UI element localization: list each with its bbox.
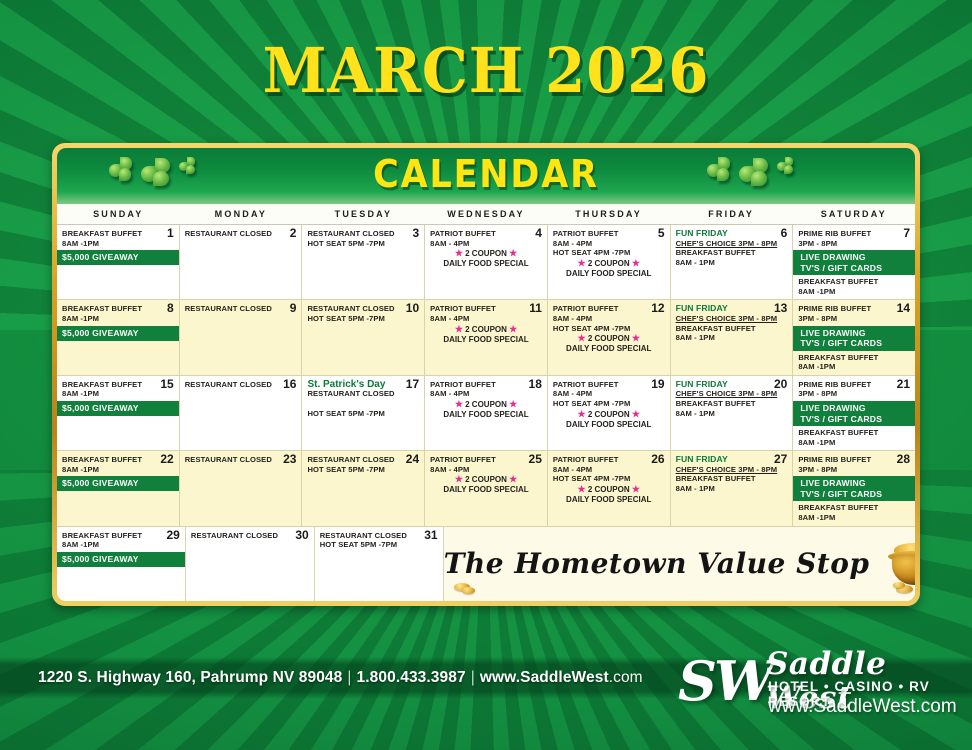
weekday-label-saturday: SATURDAY <box>792 204 915 224</box>
calendar-week-row: 22BREAKFAST BUFFET8AM -1PM$5,000 GIVEAWA… <box>57 451 915 526</box>
giveaway-banner: $5,000 GIVEAWAY <box>57 476 179 491</box>
event-text: HOT SEAT 5PM -7PM <box>307 239 419 249</box>
day-number: 11 <box>529 302 542 315</box>
calendar-day-cell-13[interactable]: 13FUN FRIDAYCHEF'S CHOICE 3PM - 8PMBREAK… <box>671 300 794 374</box>
event-text: RESTAURANT CLOSED <box>307 389 419 399</box>
cell-footer-text: BREAKFAST BUFFET8AM - 1PM <box>676 248 788 267</box>
event-text: 8AM - 4PM <box>430 314 542 324</box>
event-text: PATRIOT BUFFET <box>553 455 665 465</box>
coupon-promo: ★ 2 COUPON ★DAILY FOOD SPECIAL <box>553 258 665 279</box>
day-number: 1 <box>167 227 174 240</box>
star-icon: ★ <box>509 474 517 484</box>
live-drawing-banner: LIVE DRAWINGTV'S / GIFT CARDS <box>793 250 915 275</box>
event-text: BREAKFAST BUFFET <box>62 455 174 465</box>
calendar-day-cell-5[interactable]: 5PATRIOT BUFFET8AM - 4PMHOT SEAT 4PM -7P… <box>548 225 671 299</box>
coupon-label: 2 COUPON <box>463 400 509 409</box>
calendar-day-cell-7[interactable]: 7PRIME RIB BUFFET3PM - 8PMLIVE DRAWINGTV… <box>793 225 915 299</box>
shamrock-icon <box>777 157 794 174</box>
event-text: PATRIOT BUFFET <box>430 380 542 390</box>
star-icon: ★ <box>578 258 586 268</box>
star-icon: ★ <box>455 324 463 334</box>
calendar-day-cell-10[interactable]: 10RESTAURANT CLOSEDHOT SEAT 5PM -7PM <box>302 300 425 374</box>
event-text: 8AM -1PM <box>62 465 174 475</box>
coupon-label: 2 COUPON <box>586 410 632 419</box>
coupon-label: 2 COUPON <box>463 249 509 258</box>
star-icon: ★ <box>509 324 517 334</box>
day-number: 2 <box>290 227 297 240</box>
calendar-day-cell-9[interactable]: 9RESTAURANT CLOSED <box>180 300 303 374</box>
weekday-label-tuesday: TUESDAY <box>302 204 425 224</box>
calendar-day-cell-21[interactable]: 21PRIME RIB BUFFET3PM - 8PMLIVE DRAWINGT… <box>793 376 915 450</box>
live-drawing-banner: LIVE DRAWINGTV'S / GIFT CARDS <box>793 326 915 351</box>
calendar-day-cell-12[interactable]: 12PATRIOT BUFFET8AM - 4PMHOT SEAT 4PM -7… <box>548 300 671 374</box>
event-text: 8AM - 1PM <box>676 333 788 343</box>
cell-footer-text: BREAKFAST BUFFET8AM - 1PM <box>676 324 788 343</box>
event-text: PATRIOT BUFFET <box>553 380 665 390</box>
event-text: 8AM -1PM <box>62 540 180 550</box>
star-icon: ★ <box>455 474 463 484</box>
calendar-week-row: 8BREAKFAST BUFFET8AM -1PM$5,000 GIVEAWAY… <box>57 300 915 375</box>
day-number: 5 <box>658 227 665 240</box>
logo-monogram: SW <box>678 653 772 709</box>
day-number: 19 <box>651 378 664 391</box>
coupon-sublabel: DAILY FOOD SPECIAL <box>430 485 542 495</box>
coupon-promo: ★ 2 COUPON ★DAILY FOOD SPECIAL <box>430 474 542 495</box>
page-title: MARCH 2026 <box>34 34 938 107</box>
coupon-label: 2 COUPON <box>586 259 632 268</box>
event-text: RESTAURANT CLOSED <box>185 380 297 390</box>
day-number: 31 <box>424 529 437 542</box>
event-text: HOT SEAT 5PM -7PM <box>307 409 419 419</box>
event-text: PATRIOT BUFFET <box>430 304 542 314</box>
slogan-cell: The Hometown Value Stop <box>444 527 915 601</box>
banner-line: TV'S / GIFT CARDS <box>800 489 910 500</box>
calendar-day-cell-1[interactable]: 1BREAKFAST BUFFET8AM -1PM$5,000 GIVEAWAY <box>57 225 180 299</box>
calendar-day-cell-4[interactable]: 4PATRIOT BUFFET8AM - 4PM★ 2 COUPON ★DAIL… <box>425 225 548 299</box>
event-text: RESTAURANT CLOSED <box>307 229 419 239</box>
live-drawing-banner: LIVE DRAWINGTV'S / GIFT CARDS <box>793 401 915 426</box>
event-text: BREAKFAST BUFFET <box>62 531 180 541</box>
day-number: 12 <box>651 302 664 315</box>
event-text: 8AM - 1PM <box>676 258 788 268</box>
event-text: RESTAURANT CLOSED <box>185 304 297 314</box>
calendar-day-cell-6[interactable]: 6FUN FRIDAYCHEF'S CHOICE 3PM - 8PMBREAKF… <box>671 225 794 299</box>
feature-event-label: FUN FRIDAY <box>676 229 788 239</box>
event-text: PATRIOT BUFFET <box>430 455 542 465</box>
footer-phone: 1.800.433.3987 <box>357 669 466 686</box>
calendar-day-cell-18[interactable]: 18PATRIOT BUFFET8AM - 4PM★ 2 COUPON ★DAI… <box>425 376 548 450</box>
event-text: 8AM - 4PM <box>553 465 665 475</box>
footer-separator-2: | <box>471 669 475 686</box>
pot-of-gold-icon <box>888 541 916 587</box>
event-text: PATRIOT BUFFET <box>553 304 665 314</box>
chefs-choice-label: CHEF'S CHOICE 3PM - 8PM <box>676 239 788 249</box>
coupon-sublabel: DAILY FOOD SPECIAL <box>553 420 665 430</box>
day-number: 10 <box>406 302 419 315</box>
calendar-day-cell-17[interactable]: 17St. Patrick's DayRESTAURANT CLOSEDHOT … <box>302 376 425 450</box>
banner-line: LIVE DRAWING <box>800 252 910 263</box>
coupon-sublabel: DAILY FOOD SPECIAL <box>553 269 665 279</box>
day-number: 8 <box>167 302 174 315</box>
event-text: PRIME RIB BUFFET <box>798 455 910 465</box>
feature-event-label: FUN FRIDAY <box>676 304 788 314</box>
shamrock-icon <box>739 157 769 187</box>
event-text: HOT SEAT 5PM -7PM <box>307 465 419 475</box>
star-icon: ★ <box>632 333 640 343</box>
star-icon: ★ <box>455 248 463 258</box>
event-text: 8AM -1PM <box>62 389 174 399</box>
event-text: PRIME RIB BUFFET <box>798 229 910 239</box>
day-number: 14 <box>897 302 910 315</box>
weekday-label-monday: MONDAY <box>180 204 303 224</box>
event-text: 8AM -1PM <box>62 314 174 324</box>
calendar-day-cell-28[interactable]: 28PRIME RIB BUFFET3PM - 8PMLIVE DRAWINGT… <box>793 451 915 525</box>
calendar-grid: 1BREAKFAST BUFFET8AM -1PM$5,000 GIVEAWAY… <box>57 225 915 601</box>
event-text: BREAKFAST BUFFET <box>798 353 910 363</box>
day-number: 27 <box>774 453 787 466</box>
logo-website[interactable]: www.SaddleWest.com <box>768 696 957 718</box>
coupon-label: 2 COUPON <box>586 485 632 494</box>
coupon-sublabel: DAILY FOOD SPECIAL <box>430 410 542 420</box>
calendar-day-cell-16[interactable]: 16RESTAURANT CLOSED <box>180 376 303 450</box>
slogan-text: The Hometown Value Stop <box>444 547 870 580</box>
coupon-promo: ★ 2 COUPON ★DAILY FOOD SPECIAL <box>430 248 542 269</box>
event-text: 3PM - 8PM <box>798 389 910 399</box>
coupon-sublabel: DAILY FOOD SPECIAL <box>430 335 542 345</box>
feature-event-label: FUN FRIDAY <box>676 455 788 465</box>
day-number: 3 <box>412 227 419 240</box>
day-number: 16 <box>283 378 296 391</box>
coupon-promo: ★ 2 COUPON ★DAILY FOOD SPECIAL <box>553 484 665 505</box>
day-number: 4 <box>535 227 542 240</box>
day-number: 9 <box>290 302 297 315</box>
calendar-day-cell-15[interactable]: 15BREAKFAST BUFFET8AM -1PM$5,000 GIVEAWA… <box>57 376 180 450</box>
event-text: 8AM - 4PM <box>553 389 665 399</box>
banner-line: TV'S / GIFT CARDS <box>800 338 910 349</box>
calendar-day-cell-23[interactable]: 23RESTAURANT CLOSED <box>180 451 303 525</box>
pot-body-part <box>892 555 916 585</box>
banner-line: TV'S / GIFT CARDS <box>800 263 910 274</box>
event-text: 8AM -1PM <box>798 438 910 448</box>
day-number: 17 <box>406 378 419 391</box>
weekday-label-friday: FRIDAY <box>670 204 793 224</box>
calendar-day-cell-25[interactable]: 25PATRIOT BUFFET8AM - 4PM★ 2 COUPON ★DAI… <box>425 451 548 525</box>
event-text: RESTAURANT CLOSED <box>307 455 419 465</box>
event-text: BREAKFAST BUFFET <box>798 428 910 438</box>
event-text: BREAKFAST BUFFET <box>676 474 788 484</box>
calendar-day-cell-26[interactable]: 26PATRIOT BUFFET8AM - 4PMHOT SEAT 4PM -7… <box>548 451 671 525</box>
footer-separator-1: | <box>347 669 351 686</box>
cell-footer-text: BREAKFAST BUFFET8AM - 1PM <box>676 399 788 418</box>
event-text: HOT SEAT 4PM -7PM <box>553 399 665 409</box>
event-text: BREAKFAST BUFFET <box>62 229 174 239</box>
coupon-sublabel: DAILY FOOD SPECIAL <box>553 495 665 505</box>
shamrock-group-right <box>707 157 794 187</box>
event-text: 8AM - 4PM <box>430 465 542 475</box>
footer-contact: 1220 S. Highway 160, Pahrump NV 89048|1.… <box>38 669 643 687</box>
day-number: 21 <box>897 378 910 391</box>
footer-address: 1220 S. Highway 160, Pahrump NV 89048 <box>38 669 342 686</box>
cell-footer-text: BREAKFAST BUFFET8AM - 1PM <box>676 474 788 493</box>
event-text: BREAKFAST BUFFET <box>62 380 174 390</box>
coupon-sublabel: DAILY FOOD SPECIAL <box>553 344 665 354</box>
calendar-day-cell-29[interactable]: 29BREAKFAST BUFFET8AM -1PM$5,000 GIVEAWA… <box>57 527 186 601</box>
day-number: 20 <box>774 378 787 391</box>
banner-line: TV'S / GIFT CARDS <box>800 414 910 425</box>
day-number: 24 <box>406 453 419 466</box>
calendar-day-cell-27[interactable]: 27FUN FRIDAYCHEF'S CHOICE 3PM - 8PMBREAK… <box>671 451 794 525</box>
gold-coin-icon <box>893 582 905 588</box>
banner-line: LIVE DRAWING <box>800 403 910 414</box>
chefs-choice-label: CHEF'S CHOICE 3PM - 8PM <box>676 314 788 324</box>
event-text: HOT SEAT 4PM -7PM <box>553 248 665 258</box>
day-number: 7 <box>903 227 910 240</box>
holiday-label: St. Patrick's Day <box>307 380 419 390</box>
event-text: BREAKFAST BUFFET <box>62 304 174 314</box>
shamrock-icon <box>707 157 731 181</box>
calendar-day-cell-3[interactable]: 3RESTAURANT CLOSEDHOT SEAT 5PM -7PM <box>302 225 425 299</box>
live-drawing-banner: LIVE DRAWINGTV'S / GIFT CARDS <box>793 476 915 501</box>
day-number: 25 <box>529 453 542 466</box>
calendar-day-cell-19[interactable]: 19PATRIOT BUFFET8AM - 4PMHOT SEAT 4PM -7… <box>548 376 671 450</box>
event-text: 8AM -1PM <box>798 362 910 372</box>
event-text: PATRIOT BUFFET <box>430 229 542 239</box>
event-text: 8AM -1PM <box>798 513 910 523</box>
day-number: 18 <box>529 378 542 391</box>
day-number: 22 <box>160 453 173 466</box>
calendar-day-cell-20[interactable]: 20FUN FRIDAYCHEF'S CHOICE 3PM - 8PMBREAK… <box>671 376 794 450</box>
event-text: 8AM -1PM <box>62 239 174 249</box>
calendar-week-row: 15BREAKFAST BUFFET8AM -1PM$5,000 GIVEAWA… <box>57 376 915 451</box>
event-text: 8AM - 4PM <box>430 389 542 399</box>
event-text: 8AM - 1PM <box>676 484 788 494</box>
giveaway-banner: $5,000 GIVEAWAY <box>57 250 179 265</box>
feature-event-label: FUN FRIDAY <box>676 380 788 390</box>
day-number: 28 <box>897 453 910 466</box>
event-text: RESTAURANT CLOSED <box>185 229 297 239</box>
event-text: BREAKFAST BUFFET <box>676 248 788 258</box>
day-number: 6 <box>781 227 788 240</box>
event-text: BREAKFAST BUFFET <box>798 503 910 513</box>
coupon-label: 2 COUPON <box>463 475 509 484</box>
weekday-header-row: SUNDAYMONDAYTUESDAYWEDNESDAYTHURSDAYFRID… <box>57 204 915 225</box>
weekday-label-wednesday: WEDNESDAY <box>425 204 548 224</box>
star-icon: ★ <box>578 333 586 343</box>
coupon-promo: ★ 2 COUPON ★DAILY FOOD SPECIAL <box>430 399 542 420</box>
banner-line: LIVE DRAWING <box>800 328 910 339</box>
event-text: RESTAURANT CLOSED <box>320 531 438 541</box>
footer-website[interactable]: www.SaddleWest <box>480 669 609 686</box>
giveaway-banner: $5,000 GIVEAWAY <box>57 326 179 341</box>
chefs-choice-label: CHEF'S CHOICE 3PM - 8PM <box>676 389 788 399</box>
giveaway-banner: $5,000 GIVEAWAY <box>57 552 185 567</box>
event-text: PRIME RIB BUFFET <box>798 304 910 314</box>
banner-line: LIVE DRAWING <box>800 478 910 489</box>
calendar-day-cell-30[interactable]: 30RESTAURANT CLOSED <box>186 527 315 601</box>
calendar-banner: CALENDAR <box>57 148 915 204</box>
weekday-label-sunday: SUNDAY <box>57 204 180 224</box>
day-number: 15 <box>160 378 173 391</box>
day-number: 26 <box>651 453 664 466</box>
star-icon: ★ <box>632 409 640 419</box>
star-icon: ★ <box>509 399 517 409</box>
day-number: 13 <box>774 302 787 315</box>
event-text: BREAKFAST BUFFET <box>676 324 788 334</box>
coupon-promo: ★ 2 COUPON ★DAILY FOOD SPECIAL <box>553 409 665 430</box>
event-text: PRIME RIB BUFFET <box>798 380 910 390</box>
coupon-label: 2 COUPON <box>586 334 632 343</box>
event-text: HOT SEAT 4PM -7PM <box>553 474 665 484</box>
event-text: 8AM - 4PM <box>553 314 665 324</box>
coupon-label: 2 COUPON <box>463 325 509 334</box>
event-text: 8AM - 4PM <box>553 239 665 249</box>
event-text: 8AM -1PM <box>798 287 910 297</box>
footer-website-tld[interactable]: .com <box>609 669 643 686</box>
coupon-promo: ★ 2 COUPON ★DAILY FOOD SPECIAL <box>553 333 665 354</box>
event-text: 8AM - 4PM <box>430 239 542 249</box>
coupon-promo: ★ 2 COUPON ★DAILY FOOD SPECIAL <box>430 324 542 345</box>
calendar-day-cell-11[interactable]: 11PATRIOT BUFFET8AM - 4PM★ 2 COUPON ★DAI… <box>425 300 548 374</box>
weekday-label-thursday: THURSDAY <box>547 204 670 224</box>
event-text: HOT SEAT 5PM -7PM <box>307 314 419 324</box>
star-icon: ★ <box>632 258 640 268</box>
day-number: 30 <box>295 529 308 542</box>
event-text: PATRIOT BUFFET <box>553 229 665 239</box>
calendar-frame: CALENDAR SUNDAYMONDAYTUESDAYWEDNESDAYTHU… <box>52 143 920 606</box>
event-text: 3PM - 8PM <box>798 465 910 475</box>
calendar-day-cell-22[interactable]: 22BREAKFAST BUFFET8AM -1PM$5,000 GIVEAWA… <box>57 451 180 525</box>
spacer <box>307 399 419 409</box>
calendar-day-cell-24[interactable]: 24RESTAURANT CLOSEDHOT SEAT 5PM -7PM <box>302 451 425 525</box>
calendar-day-cell-8[interactable]: 8BREAKFAST BUFFET8AM -1PM$5,000 GIVEAWAY <box>57 300 180 374</box>
star-icon: ★ <box>578 409 586 419</box>
calendar-week-row: 1BREAKFAST BUFFET8AM -1PM$5,000 GIVEAWAY… <box>57 225 915 300</box>
event-text: 3PM - 8PM <box>798 239 910 249</box>
gold-coin-icon <box>462 587 475 594</box>
event-text: 3PM - 8PM <box>798 314 910 324</box>
calendar-day-cell-2[interactable]: 2RESTAURANT CLOSED <box>180 225 303 299</box>
star-icon: ★ <box>578 484 586 494</box>
day-number: 23 <box>283 453 296 466</box>
event-text: RESTAURANT CLOSED <box>307 304 419 314</box>
event-text: 8AM - 1PM <box>676 409 788 419</box>
calendar-day-cell-14[interactable]: 14PRIME RIB BUFFET3PM - 8PMLIVE DRAWINGT… <box>793 300 915 374</box>
star-icon: ★ <box>632 484 640 494</box>
event-text: RESTAURANT CLOSED <box>185 455 297 465</box>
saddle-west-logo: SW Saddle West HOTEL • CASINO • RV RESOR… <box>678 645 962 731</box>
event-text: HOT SEAT 5PM -7PM <box>320 540 438 550</box>
event-text: RESTAURANT CLOSED <box>191 531 309 541</box>
event-text: BREAKFAST BUFFET <box>676 399 788 409</box>
coupon-sublabel: DAILY FOOD SPECIAL <box>430 259 542 269</box>
calendar-week-row: 29BREAKFAST BUFFET8AM -1PM$5,000 GIVEAWA… <box>57 527 915 601</box>
star-icon: ★ <box>509 248 517 258</box>
chefs-choice-label: CHEF'S CHOICE 3PM - 8PM <box>676 465 788 475</box>
giveaway-banner: $5,000 GIVEAWAY <box>57 401 179 416</box>
star-icon: ★ <box>455 399 463 409</box>
event-text: HOT SEAT 4PM -7PM <box>553 324 665 334</box>
event-text: BREAKFAST BUFFET <box>798 277 910 287</box>
day-number: 29 <box>167 529 180 542</box>
calendar-day-cell-31[interactable]: 31RESTAURANT CLOSEDHOT SEAT 5PM -7PM <box>315 527 444 601</box>
